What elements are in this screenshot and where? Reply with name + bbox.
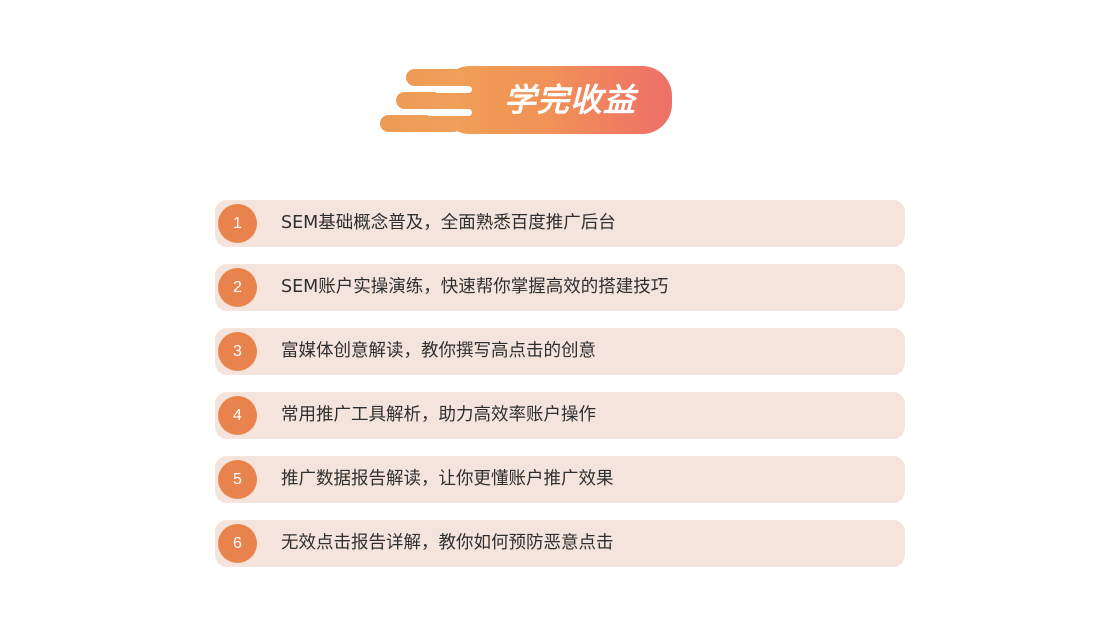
list-item[interactable]: 5 推广数据报告解读，让你更懂账户推广效果 xyxy=(0,456,1120,503)
list-item-number-badge: 1 xyxy=(218,204,257,243)
list-item-label: SEM账户实操演练，快速帮你掌握高效的搭建技巧 xyxy=(281,264,668,311)
list-item[interactable]: 6 无效点击报告详解，教你如何预防恶意点击 xyxy=(0,520,1120,567)
list-item-number-badge: 3 xyxy=(218,332,257,371)
list-item-label: 富媒体创意解读，教你撰写高点击的创意 xyxy=(281,328,596,375)
list-item[interactable]: 2 SEM账户实操演练，快速帮你掌握高效的搭建技巧 xyxy=(0,264,1120,311)
list-item-label: 无效点击报告详解，教你如何预防恶意点击 xyxy=(281,520,614,567)
slide-canvas: 学完收益 1 SEM基础概念普及，全面熟悉百度推广后台 2 SEM账户实操演练，… xyxy=(0,0,1120,629)
list-item[interactable]: 4 常用推广工具解析，助力高效率账户操作 xyxy=(0,392,1120,439)
title-banner: 学完收益 xyxy=(378,66,672,134)
list-item[interactable]: 1 SEM基础概念普及，全面熟悉百度推广后台 xyxy=(0,200,1120,247)
list-item-number-badge: 2 xyxy=(218,268,257,307)
list-item-number-badge: 4 xyxy=(218,396,257,435)
benefit-list: 1 SEM基础概念普及，全面熟悉百度推广后台 2 SEM账户实操演练，快速帮你掌… xyxy=(0,200,1120,584)
list-item-number-badge: 6 xyxy=(218,524,257,563)
list-item-label: 常用推广工具解析，助力高效率账户操作 xyxy=(281,392,596,439)
list-item-label: SEM基础概念普及，全面熟悉百度推广后台 xyxy=(281,200,616,247)
list-item[interactable]: 3 富媒体创意解读，教你撰写高点击的创意 xyxy=(0,328,1120,375)
list-item-label: 推广数据报告解读，让你更懂账户推广效果 xyxy=(281,456,614,503)
list-item-number-badge: 5 xyxy=(218,460,257,499)
page-title: 学完收益 xyxy=(378,66,672,134)
